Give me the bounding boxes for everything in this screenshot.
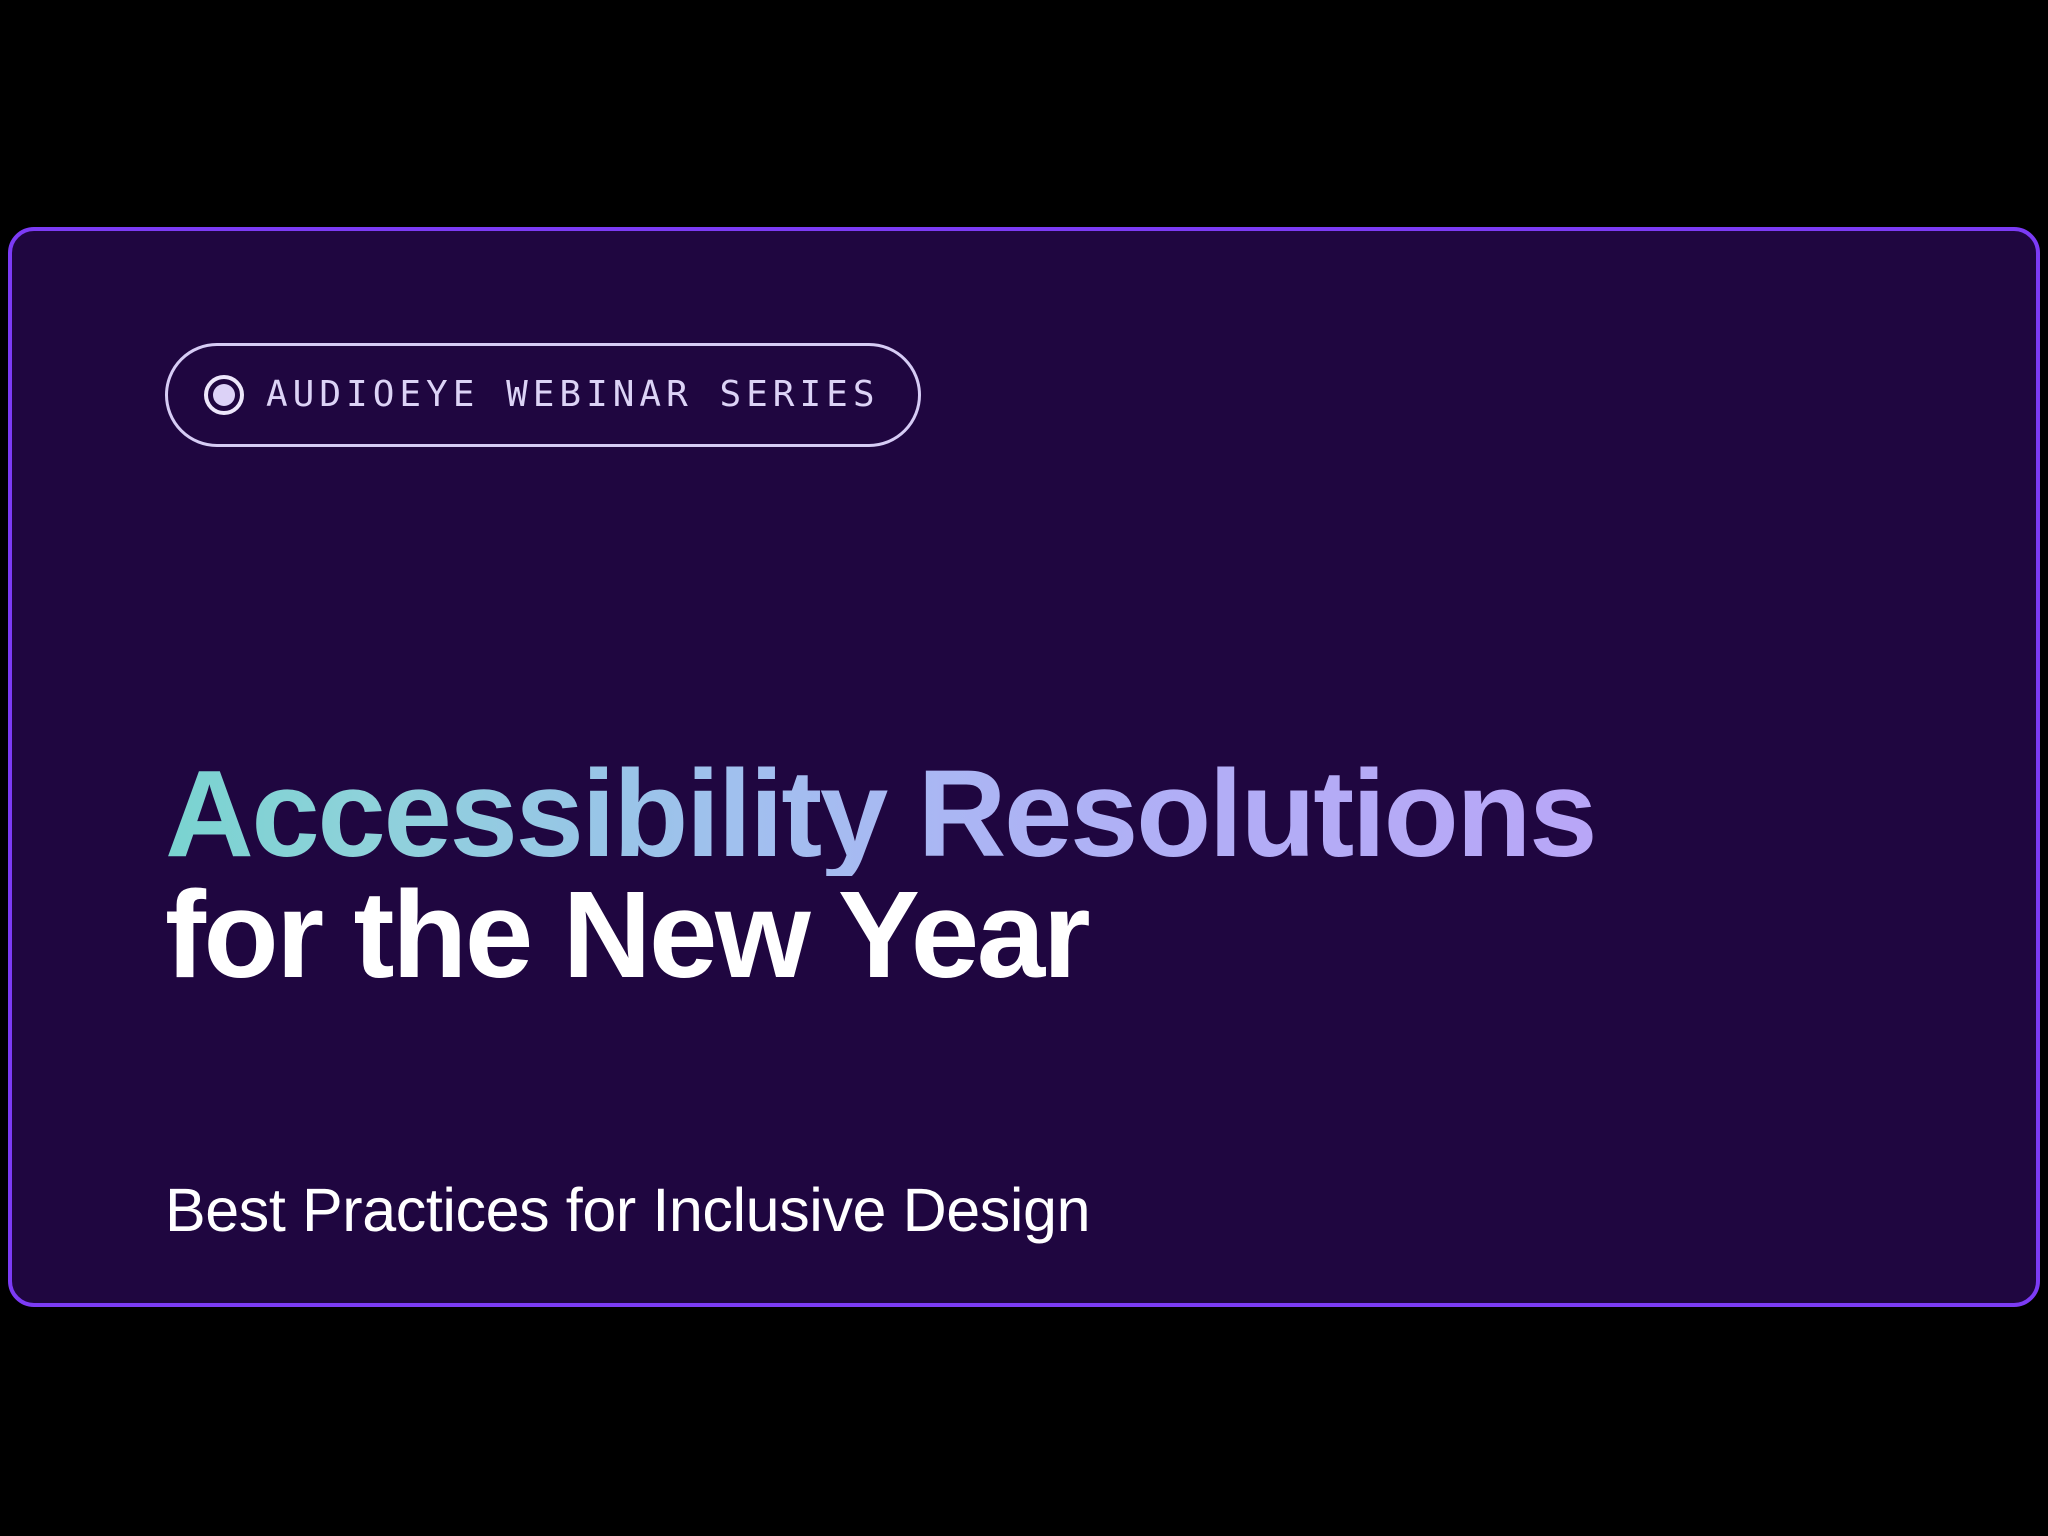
screenshot-stage: AUDIOEYE WEBINAR SERIES Accessibility Re…: [0, 0, 2048, 1536]
eye-pupil: [213, 384, 235, 406]
headline-line-1: Accessibility Resolutions: [165, 755, 1595, 876]
card-content: AUDIOEYE WEBINAR SERIES Accessibility Re…: [165, 231, 2036, 1303]
webinar-promo-card: AUDIOEYE WEBINAR SERIES Accessibility Re…: [8, 227, 2040, 1307]
page-subtitle: Best Practices for Inclusive Design: [165, 1175, 1090, 1245]
page-title: Accessibility Resolutions for the New Ye…: [165, 755, 1595, 996]
headline-line-2: for the New Year: [165, 876, 1595, 997]
audioeye-eye-icon: [204, 375, 244, 415]
webinar-series-badge-label: AUDIOEYE WEBINAR SERIES: [266, 377, 880, 413]
webinar-series-badge: AUDIOEYE WEBINAR SERIES: [165, 343, 921, 447]
